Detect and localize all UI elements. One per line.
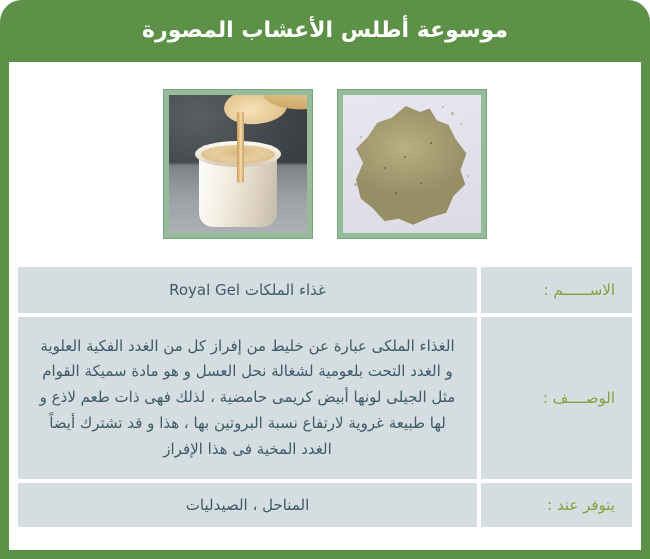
row-value-description: الغذاء الملكى عبارة عن خليط من إفراز كل … — [18, 317, 477, 479]
jelly-stream — [237, 112, 245, 184]
powder-heap — [351, 106, 470, 225]
powder-dust — [354, 183, 357, 186]
row-label-description: الوصــــف : — [481, 317, 632, 479]
value-text: المناحل ، الصيدليات — [186, 493, 309, 517]
label-text: الوصــــف : — [543, 389, 615, 407]
table-row: الاســــــم : غذاء الملكات Royal Gel — [18, 267, 632, 313]
label-text: يتوفر عند : — [547, 496, 615, 514]
info-table: الاســــــم : غذاء الملكات Royal Gel الو… — [18, 267, 632, 540]
powder-dust — [460, 123, 462, 125]
powder-speck — [404, 156, 406, 158]
powder-dust — [442, 106, 444, 108]
row-label-availability: يتوفر عند : — [481, 483, 632, 527]
powder-dust — [467, 175, 469, 177]
herb-card: موسوعة أطلس الأعشاب المصورة — [0, 0, 650, 559]
row-label-name: الاســــــم : — [481, 267, 632, 313]
card-body: الاســــــم : غذاء الملكات Royal Gel الو… — [9, 62, 641, 550]
page-title: موسوعة أطلس الأعشاب المصورة — [142, 20, 508, 42]
value-text: الغذاء الملكى عبارة عن خليط من إفراز كل … — [38, 334, 457, 463]
table-row: يتوفر عند : المناحل ، الصيدليات — [18, 483, 632, 527]
table-row: الوصــــف : الغذاء الملكى عبارة عن خليط … — [18, 317, 632, 479]
row-value-name: غذاء الملكات Royal Gel — [18, 267, 477, 313]
powder-speck — [430, 142, 432, 144]
photo-strip — [18, 70, 632, 258]
value-text: غذاء الملكات Royal Gel — [169, 278, 326, 302]
label-text: الاســــــم : — [544, 281, 615, 299]
powder-dust — [451, 112, 454, 115]
row-value-availability: المناحل ، الصيدليات — [18, 483, 477, 527]
royal-jelly-pouring-photo — [164, 90, 312, 238]
royal-jelly-powder-image — [343, 95, 481, 233]
royal-jelly-pouring-image — [169, 95, 307, 233]
powder-dust — [360, 136, 362, 138]
royal-jelly-powder-photo — [338, 90, 486, 238]
card-header: موسوعة أطلس الأعشاب المصورة — [9, 0, 641, 62]
